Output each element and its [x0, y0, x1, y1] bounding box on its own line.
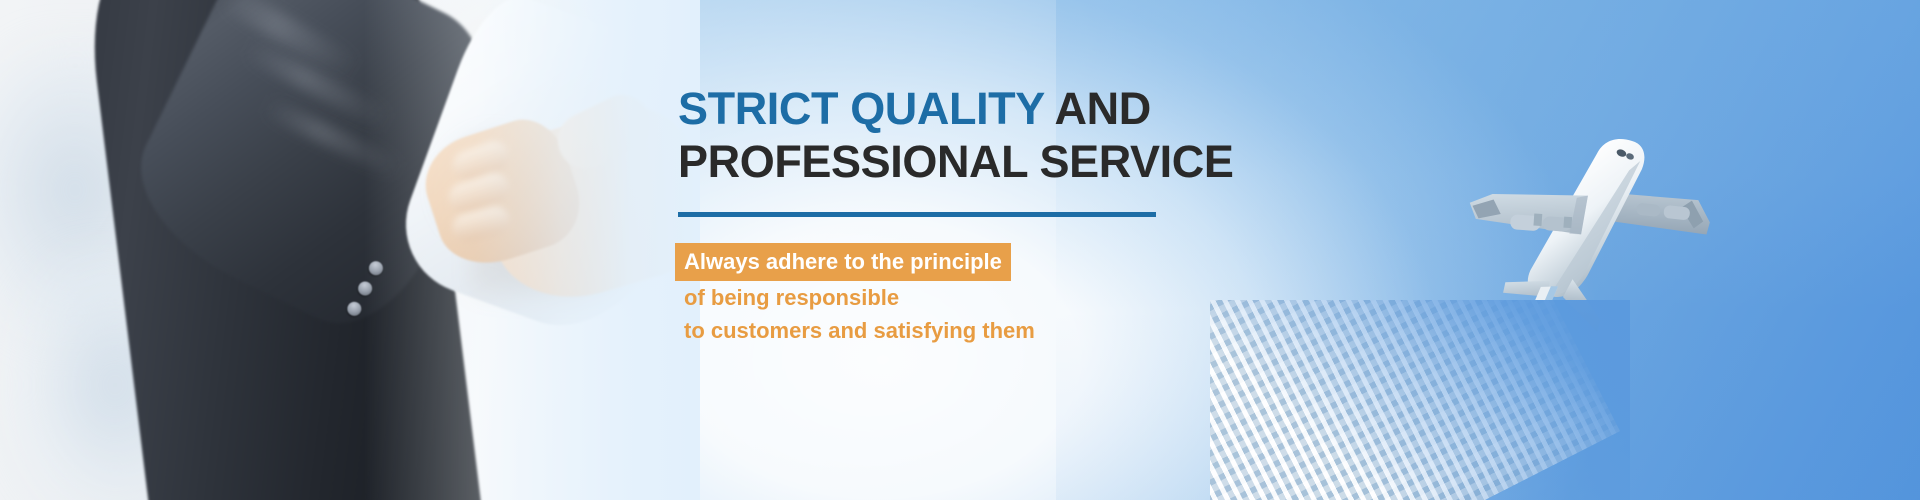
- banner-content: STRICT QUALITY AND PROFESSIONAL SERVICE …: [678, 82, 1198, 347]
- subtitle-line3: to customers and satisfying them: [678, 314, 1198, 347]
- promo-banner: STRICT QUALITY AND PROFESSIONAL SERVICE …: [0, 0, 1920, 500]
- building-fade-overlay: [1210, 300, 1630, 500]
- subtitle-line1: Always adhere to the principle: [675, 243, 1011, 281]
- banner-subtitle: Always adhere to the principle of being …: [678, 243, 1198, 347]
- handshake-photo: [0, 0, 700, 500]
- subtitle-line2: of being responsible: [678, 281, 1198, 314]
- headline-line1-blue: STRICT QUALITY: [678, 83, 1044, 134]
- headline-divider: [678, 212, 1156, 217]
- headline-line1-dark: AND: [1055, 83, 1151, 134]
- headline-line2: PROFESSIONAL SERVICE: [678, 136, 1233, 187]
- subtitle-line1-wrapper: Always adhere to the principle: [678, 243, 1198, 281]
- banner-headline: STRICT QUALITY AND PROFESSIONAL SERVICE: [678, 82, 1198, 188]
- building-facade: [1210, 300, 1630, 500]
